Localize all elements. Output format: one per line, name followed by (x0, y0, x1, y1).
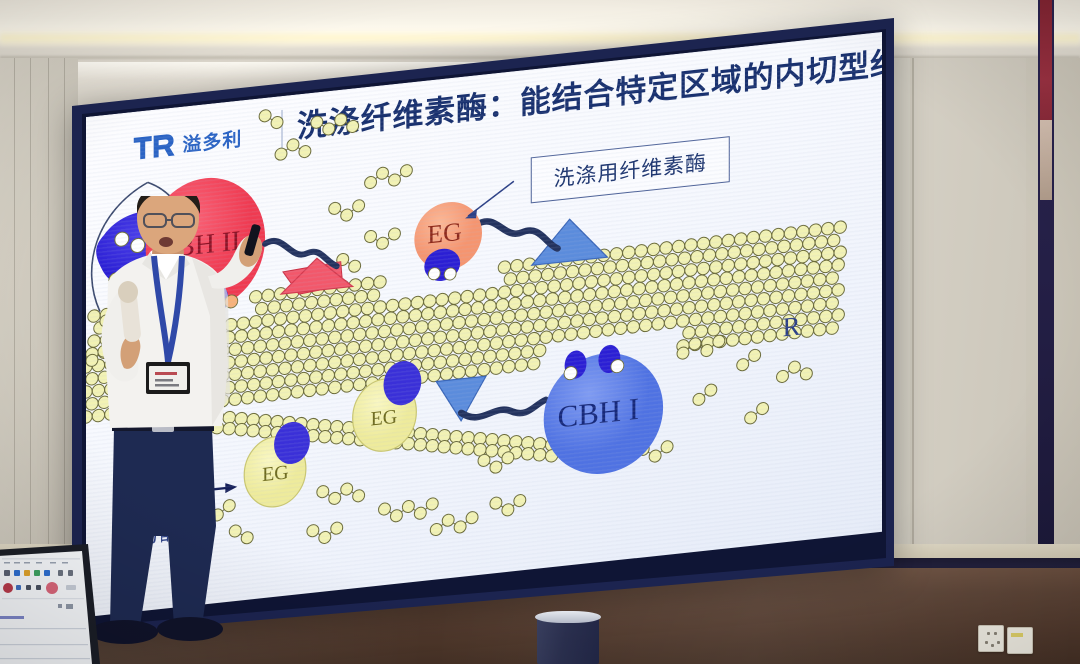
screenshot-root: 溢多利 洗涤纤维素酶：能结合特定区域的内切型纤维素酶 (0, 0, 1080, 664)
floor-bin (537, 616, 599, 664)
floor-bin-lid (535, 611, 601, 623)
data-socket (1007, 627, 1033, 654)
enzyme-label-eg-top: EG (427, 217, 461, 251)
power-socket (978, 625, 1004, 652)
laptop[interactable] (0, 540, 100, 664)
enzyme-label-eg-mid: EG (371, 406, 398, 432)
curtain-highlight (1040, 120, 1052, 200)
label-R: R (783, 311, 801, 344)
callout-text: 洗涤用纤维素酶 (554, 147, 707, 193)
laptop-screen[interactable] (0, 540, 100, 664)
